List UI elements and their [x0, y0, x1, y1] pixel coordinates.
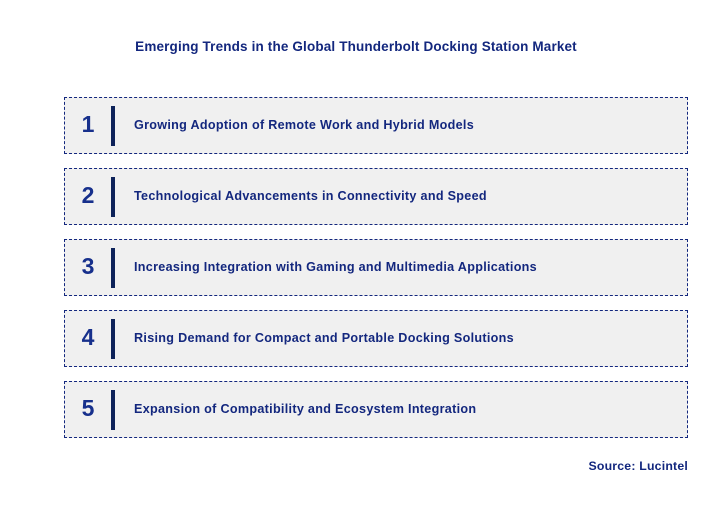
vertical-divider-bar [111, 248, 115, 288]
trend-row-3: 3 Increasing Integration with Gaming and… [64, 239, 688, 296]
trend-row-1: 1 Growing Adoption of Remote Work and Hy… [64, 97, 688, 154]
trend-row-4: 4 Rising Demand for Compact and Portable… [64, 310, 688, 367]
trend-label: Expansion of Compatibility and Ecosystem… [134, 402, 687, 417]
source-attribution: Source: Lucintel [588, 459, 688, 473]
trend-number: 4 [65, 326, 111, 351]
vertical-divider-bar [111, 319, 115, 359]
trend-number: 5 [65, 397, 111, 422]
emerging-trends-infographic: Emerging Trends in the Global Thunderbol… [0, 0, 712, 521]
trend-label: Rising Demand for Compact and Portable D… [134, 331, 687, 346]
trend-row-2: 2 Technological Advancements in Connecti… [64, 168, 688, 225]
trend-label: Increasing Integration with Gaming and M… [134, 260, 687, 275]
trend-number: 2 [65, 184, 111, 209]
trend-row-5: 5 Expansion of Compatibility and Ecosyst… [64, 381, 688, 438]
vertical-divider-bar [111, 177, 115, 217]
trend-label: Technological Advancements in Connectivi… [134, 189, 687, 204]
vertical-divider-bar [111, 390, 115, 430]
trend-list: 1 Growing Adoption of Remote Work and Hy… [64, 97, 688, 438]
vertical-divider-bar [111, 106, 115, 146]
trend-number: 3 [65, 255, 111, 280]
page-title: Emerging Trends in the Global Thunderbol… [0, 39, 712, 54]
trend-label: Growing Adoption of Remote Work and Hybr… [134, 118, 687, 133]
trend-number: 1 [65, 113, 111, 138]
